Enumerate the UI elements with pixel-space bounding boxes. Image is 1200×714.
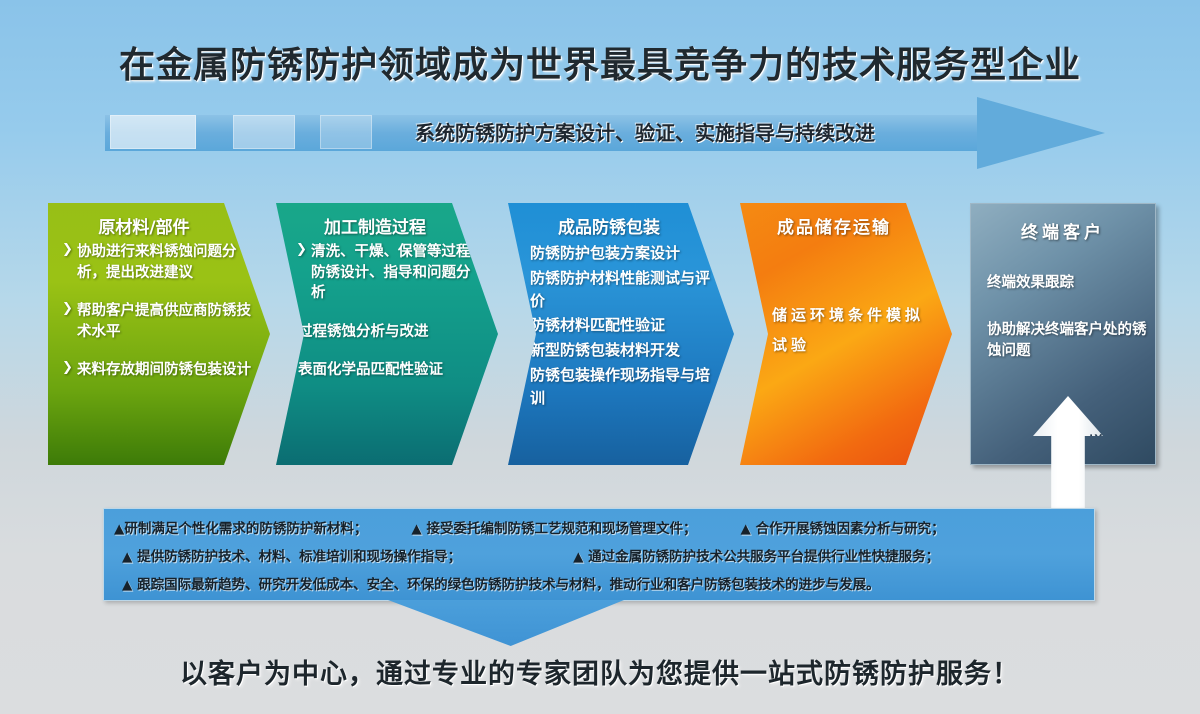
stage-card-manufacturing[interactable]: 加工制造过程 清洗、干燥、保管等过程防锈设计、指导和问题分析 过程锈蚀分析与改进… — [276, 203, 498, 465]
stage-heading: 加工制造过程 — [298, 213, 482, 238]
services-panel: ▲研制满足个性化需求的防锈防护新材料； ▲ 接受委托编制防锈工艺规范和现场管理文… — [103, 508, 1095, 601]
panel-cell: ▲ 通过金属防锈防护技术公共服务平台提供行业性快捷服务； — [573, 543, 939, 571]
stage-card-raw-material[interactable]: 原材料/部件 协助进行来料锈蚀问题分析，提出改进建议 帮助客户提高供应商防锈技术… — [48, 203, 270, 465]
footer-slogan: 以客户为中心，通过专业的专家团队为您提供一站式防锈防护服务！ — [0, 652, 1200, 691]
stage-card-storage-transport[interactable]: 成品储存运输 储运环境条件模拟试验 — [740, 203, 952, 465]
list-item: 新型防锈包装材料开发 — [530, 339, 718, 362]
infographic-canvas: 在金属防锈防护领域成为世界最具竞争力的技术服务型企业 系统防锈防护方案设计、验证… — [0, 0, 1200, 714]
list-item: 防锈防护包装方案设计 — [530, 242, 718, 265]
stage-heading: 成品防锈包装 — [530, 213, 718, 238]
banner-ghost-block-2 — [233, 115, 295, 149]
banner-ghost-block-1 — [110, 115, 196, 149]
panel-cell: ▲ 跟踪国际最新趋势、研究开发低成本、安全、环保的绿色防锈防护技术与材料，推动行… — [122, 577, 880, 593]
banner-ghost-block-3 — [320, 115, 372, 149]
list-item: 清洗、干燥、保管等过程防锈设计、指导和问题分析 — [298, 242, 482, 304]
list-item: 防锈材料匹配性验证 — [530, 314, 718, 337]
stage-heading: 成品储存运输 — [762, 213, 936, 238]
list-item: 过程锈蚀分析与改进 — [298, 322, 482, 343]
down-arrow-icon — [388, 600, 624, 646]
panel-row: ▲ 跟踪国际最新趋势、研究开发低成本、安全、环保的绿色防锈防护技术与材料，推动行… — [114, 571, 1084, 599]
list-item: 表面化学品匹配性验证 — [298, 360, 482, 381]
right-arrow-banner-icon — [977, 97, 1105, 169]
list-item: 防锈包装操作现场指导与培训 — [530, 364, 718, 410]
stage-item-list: 协助进行来料锈蚀问题分析，提出改进建议 帮助客户提高供应商防锈技术水平 来料存放… — [64, 242, 254, 381]
list-item: 终端效果跟踪 — [987, 273, 1155, 294]
list-item: 协助解决终端客户处的锈蚀问题 — [987, 320, 1155, 362]
stage-item-list: 防锈防护包装方案设计 防锈防护材料性能测试与评价 防锈材料匹配性验证 新型防锈包… — [530, 242, 718, 410]
list-item: 来料存放期间防锈包装设计 — [64, 360, 254, 381]
list-item: 防锈防护材料性能测试与评价 — [530, 267, 718, 313]
stage-heading: 终端客户 — [971, 218, 1155, 243]
banner-label: 系统防锈防护方案设计、验证、实施指导与持续改进 — [415, 115, 875, 151]
stage-item-list: 终端效果跟踪 协助解决终端客户处的锈蚀问题 — [987, 273, 1155, 362]
stage-heading: 原材料/部件 — [64, 213, 254, 238]
list-item: 协助进行来料锈蚀问题分析，提出改进建议 — [64, 242, 254, 283]
stage-item-list: 清洗、干燥、保管等过程防锈设计、指导和问题分析 过程锈蚀分析与改进 表面化学品匹… — [298, 242, 482, 381]
stage-item-text: 储运环境条件模拟试验 — [762, 300, 936, 360]
page-title: 在金属防锈防护领域成为世界最具竞争力的技术服务型企业 — [0, 36, 1200, 88]
banner-arrow: 系统防锈防护方案设计、验证、实施指导与持续改进 — [105, 97, 1105, 169]
panel-row: ▲ 提供防锈防护技术、材料、标准培训和现场操作指导； ▲ 通过金属防锈防护技术公… — [114, 543, 1084, 571]
panel-cell: ▲ 提供防锈防护技术、材料、标准培训和现场操作指导； — [122, 543, 461, 571]
panel-cell: ▲ 接受委托编制防锈工艺规范和现场管理文件； — [411, 515, 696, 543]
list-item: 帮助客户提高供应商防锈技术水平 — [64, 301, 254, 342]
stage-card-product-packaging[interactable]: 成品防锈包装 防锈防护包装方案设计 防锈防护材料性能测试与评价 防锈材料匹配性验… — [508, 203, 734, 465]
panel-row: ▲研制满足个性化需求的防锈防护新材料； ▲ 接受委托编制防锈工艺规范和现场管理文… — [114, 515, 1084, 543]
panel-cell: ▲ 合作开展锈蚀因素分析与研究； — [740, 515, 944, 543]
panel-cell: ▲研制满足个性化需求的防锈防护新材料； — [114, 515, 367, 543]
